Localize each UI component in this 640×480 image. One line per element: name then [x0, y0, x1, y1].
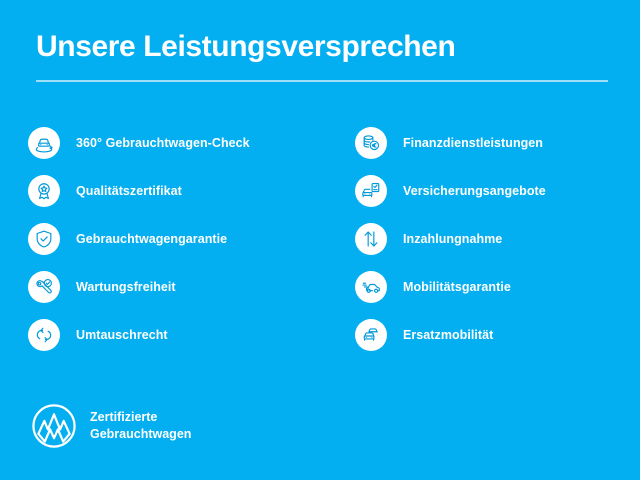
benefit-label: Versicherungsangebote: [403, 184, 546, 198]
two-cars-icon: [355, 319, 387, 351]
benefit-label: Umtauschrecht: [76, 328, 168, 342]
benefit-label: Mobilitätsgarantie: [403, 280, 511, 294]
benefits-column-right: Finanzdienstleistungen Versicherungsange…: [320, 119, 640, 359]
benefit-item-gebrauchtwagen-check[interactable]: 360° Gebrauchtwagen-Check: [28, 119, 320, 167]
car-360-check-icon: [28, 127, 60, 159]
benefit-label: Gebrauchtwagengarantie: [76, 232, 227, 246]
benefit-label: Qualitätszertifikat: [76, 184, 182, 198]
brand-text: Zertifizierte Gebrauchtwagen: [90, 409, 191, 443]
award-medal-icon: [28, 175, 60, 207]
page-title: Unsere Leistungsversprechen: [36, 30, 608, 63]
header: Unsere Leistungsversprechen: [36, 30, 608, 82]
benefit-item-versicherungsangebote[interactable]: Versicherungsangebote: [355, 167, 640, 215]
benefit-item-inzahlungnahme[interactable]: Inzahlungnahme: [355, 215, 640, 263]
benefit-item-wartungsfreiheit[interactable]: Wartungsfreiheit: [28, 263, 320, 311]
up-down-arrows-icon: [355, 223, 387, 255]
benefits-column-left: 360° Gebrauchtwagen-Check Qualitätszerti…: [0, 119, 320, 359]
coins-euro-icon: [355, 127, 387, 159]
benefit-label: Ersatzmobilität: [403, 328, 493, 342]
brand-footer: Zertifizierte Gebrauchtwagen: [30, 402, 191, 450]
benefit-item-mobilitaetsgarantie[interactable]: Mobilitätsgarantie: [355, 263, 640, 311]
volkswagen-logo: [30, 402, 78, 450]
exchange-arrows-icon: [28, 319, 60, 351]
shield-check-icon: [28, 223, 60, 255]
car-motion-icon: [355, 271, 387, 303]
brand-line-1: Zertifizierte: [90, 409, 191, 426]
benefit-label: 360° Gebrauchtwagen-Check: [76, 136, 250, 150]
wrench-check-icon: [28, 271, 60, 303]
benefit-item-ersatzmobilitaet[interactable]: Ersatzmobilität: [355, 311, 640, 359]
benefit-label: Finanzdienstleistungen: [403, 136, 543, 150]
benefit-item-umtauschrecht[interactable]: Umtauschrecht: [28, 311, 320, 359]
brand-line-2: Gebrauchtwagen: [90, 426, 191, 443]
benefit-label: Inzahlungnahme: [403, 232, 502, 246]
title-divider: [36, 80, 608, 82]
car-document-icon: [355, 175, 387, 207]
benefit-label: Wartungsfreiheit: [76, 280, 176, 294]
benefit-item-gebrauchtwagengarantie[interactable]: Gebrauchtwagengarantie: [28, 215, 320, 263]
benefits-grid: 360° Gebrauchtwagen-Check Qualitätszerti…: [0, 119, 640, 359]
benefit-item-qualitaetszertifikat[interactable]: Qualitätszertifikat: [28, 167, 320, 215]
benefit-item-finanzdienstleistungen[interactable]: Finanzdienstleistungen: [355, 119, 640, 167]
